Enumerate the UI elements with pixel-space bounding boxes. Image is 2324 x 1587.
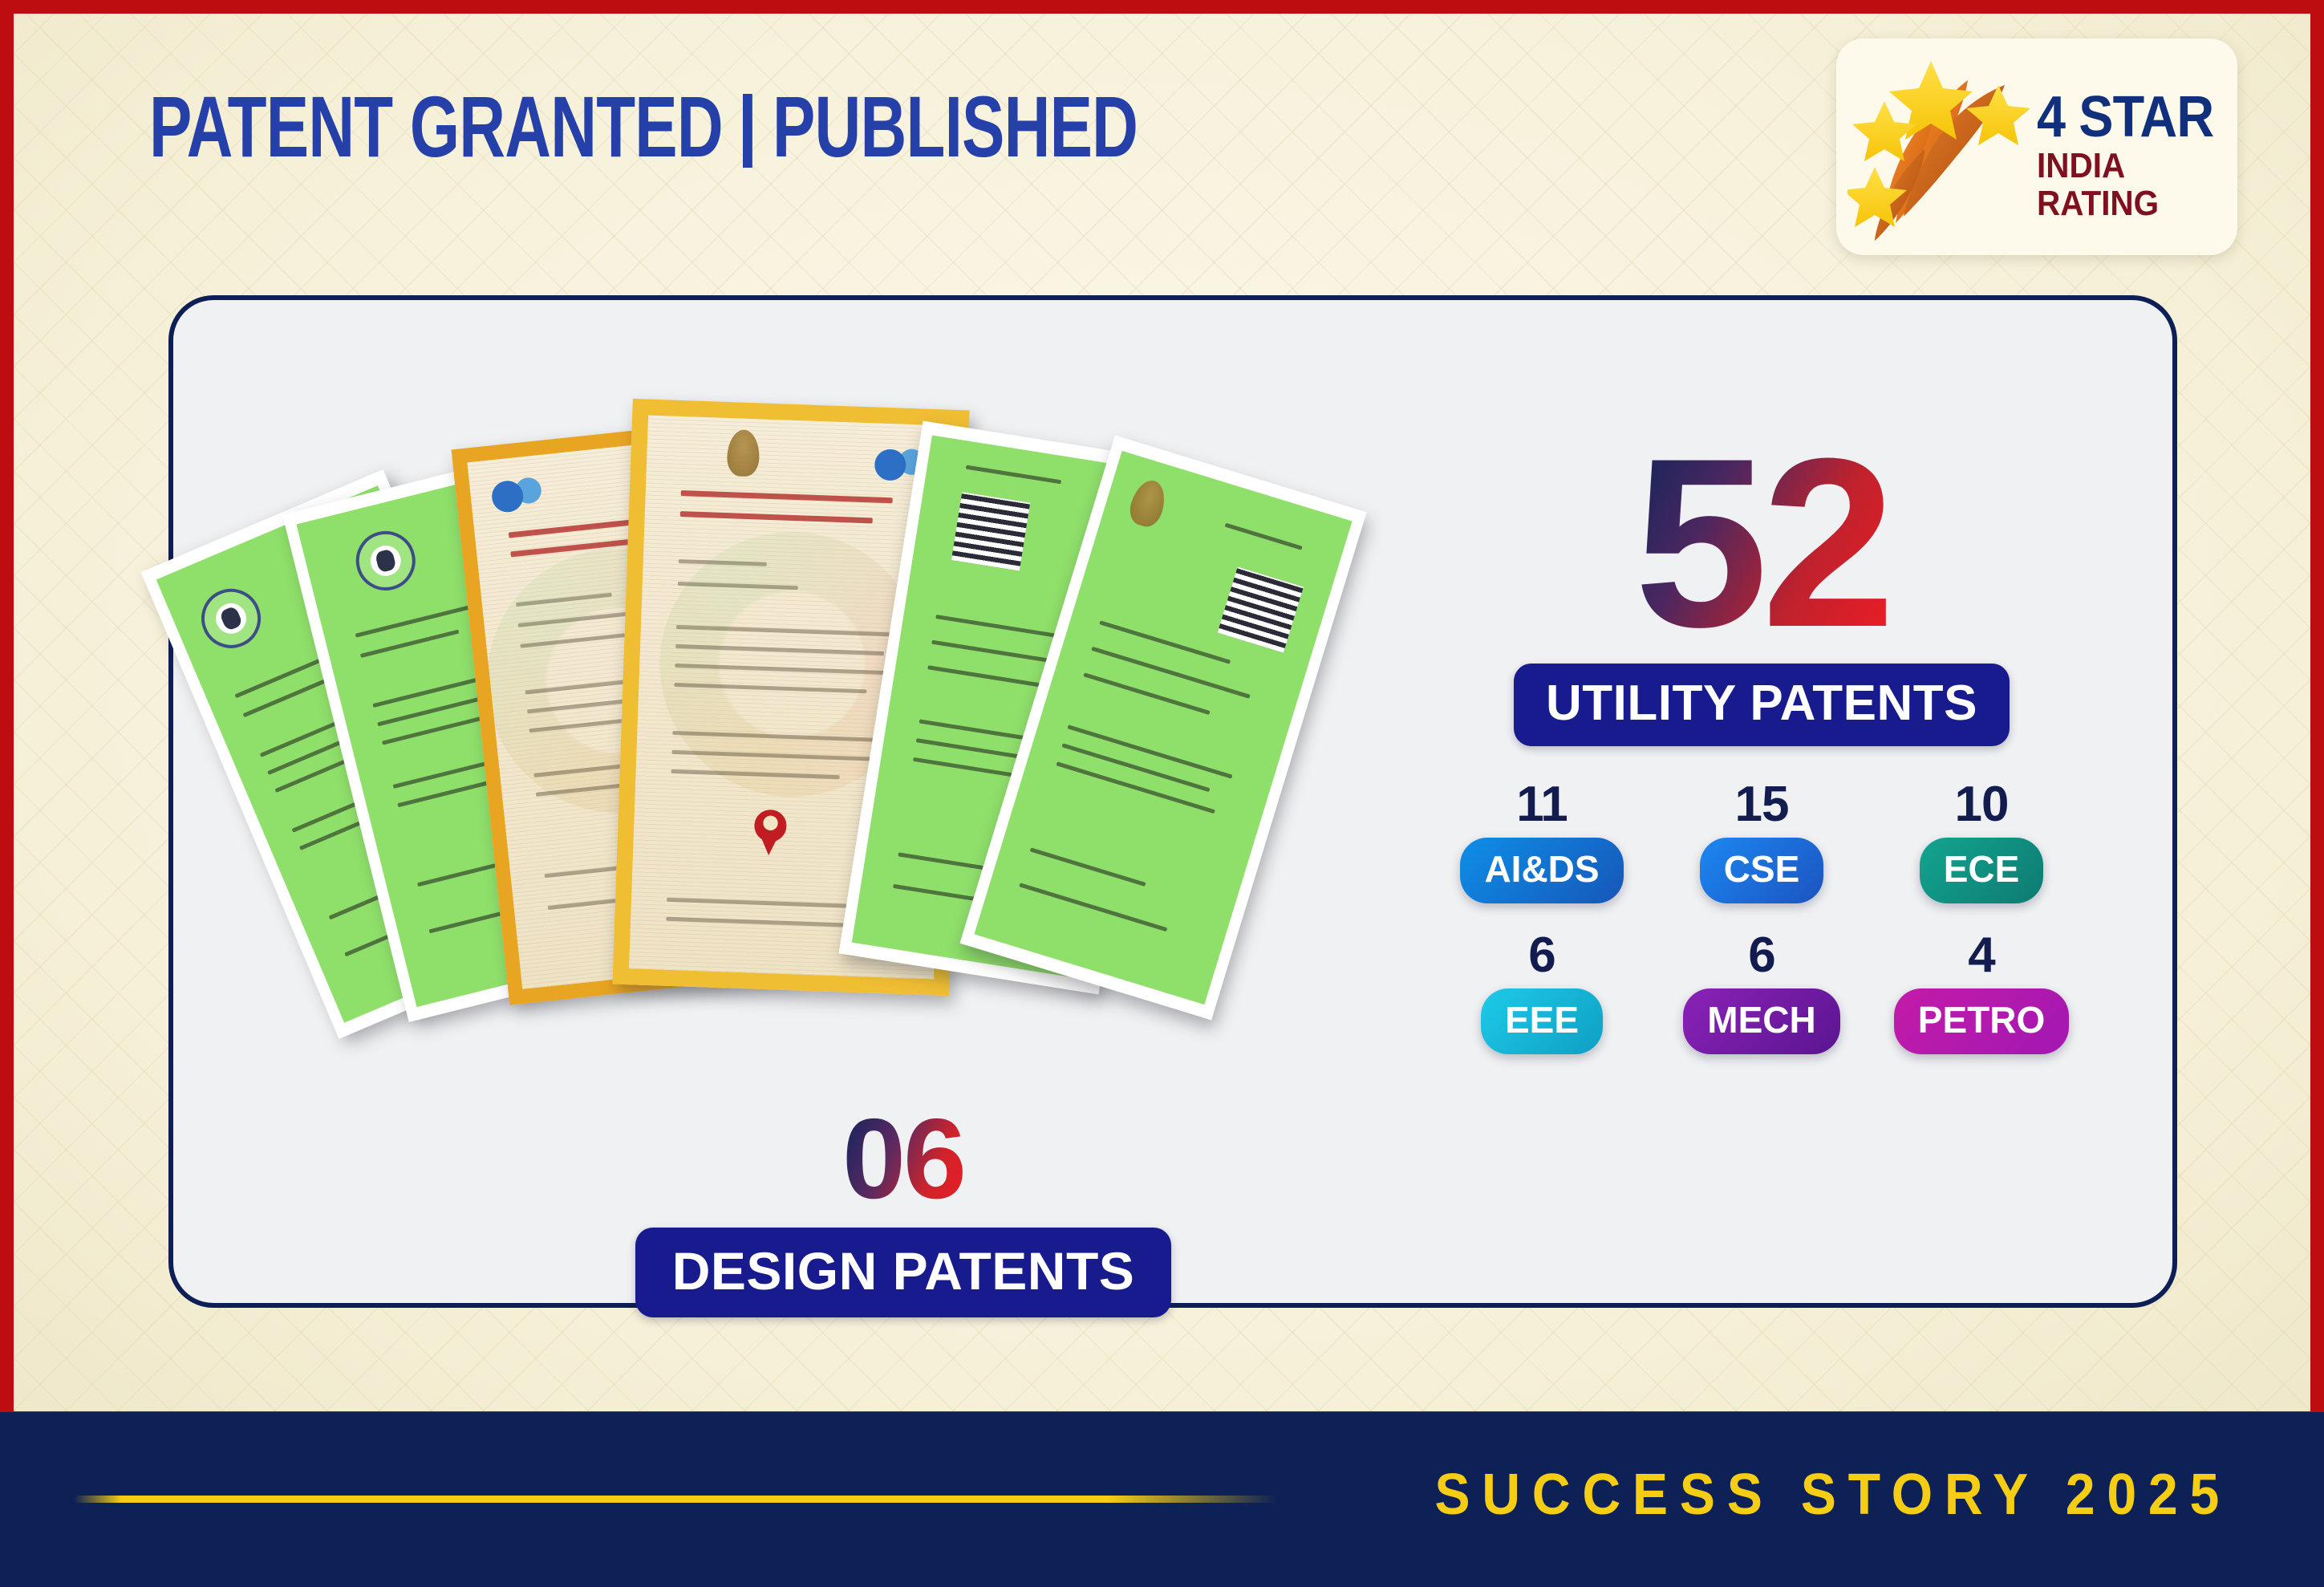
department-count: 4 [1892, 931, 2071, 980]
footer-tagline: SUCCESS STORY 2025 [1434, 1462, 2231, 1528]
department-petro: 4 PETRO [1892, 931, 2071, 1054]
national-emblem-icon [727, 429, 760, 477]
page-title: PATENT GRANTEDPUBLISHED [149, 83, 1138, 170]
department-label: AI&DS [1460, 838, 1623, 903]
department-count: 15 [1673, 780, 1851, 830]
patent-office-logo-icon [490, 472, 550, 514]
department-row-1: 11 AI&DS 15 CSE 10 ECE [1401, 780, 2123, 903]
utility-patents-label: UTILITY PATENTS [1514, 664, 2010, 746]
qr-code-icon [1218, 566, 1304, 652]
department-label: ECE [1920, 838, 2044, 903]
red-ribbon-seal-icon [753, 810, 792, 858]
office-stamp-icon [193, 579, 270, 657]
department-label: PETRO [1894, 988, 2069, 1054]
department-label: EEE [1481, 988, 1603, 1054]
four-star-rating-logo: 4 STAR INDIA RATING [1836, 39, 2237, 255]
utility-patents-block: 52 UTILITY PATENTS 11 AI&DS 15 CSE 10 [1401, 292, 2123, 1054]
qr-code-icon [951, 492, 1030, 570]
department-count: 10 [1892, 780, 2071, 830]
department-aids: 11 AI&DS [1453, 780, 1631, 903]
office-stamp-icon [350, 525, 422, 597]
national-emblem-icon [1125, 477, 1170, 530]
department-count: 11 [1453, 780, 1631, 830]
page-title-part2: PUBLISHED [773, 78, 1138, 175]
design-patents-label: DESIGN PATENTS [635, 1228, 1172, 1317]
certificates-fan [221, 388, 1336, 1022]
infographic-page: PATENT GRANTEDPUBLISHED [0, 0, 2324, 1587]
department-ece: 10 ECE [1892, 780, 2071, 903]
department-row-2: 6 EEE 6 MECH 4 PETRO [1401, 931, 2123, 1054]
logo-line-4-star: 4 STAR [2037, 90, 2214, 144]
page-title-part1: PATENT GRANTED [149, 78, 723, 175]
department-label: CSE [1700, 838, 1824, 903]
logo-line-india-rating: INDIA RATING [2037, 148, 2218, 221]
department-count: 6 [1453, 931, 1631, 980]
main-content-card: 06 DESIGN PATENTS 52 UTILITY PATENTS 11 … [168, 295, 2177, 1308]
department-breakdown: 11 AI&DS 15 CSE 10 ECE 6 EEE [1401, 780, 2123, 1054]
design-patents-block: 06 DESIGN PATENTS [566, 1102, 1240, 1317]
design-patents-count: 06 [842, 1102, 964, 1216]
department-eee: 6 EEE [1453, 931, 1631, 1054]
title-separator-bar [743, 94, 752, 168]
department-cse: 15 CSE [1673, 780, 1851, 903]
logo-text-block: 4 STAR INDIA RATING [2037, 90, 2234, 222]
footer-divider-rule [74, 1496, 1277, 1503]
utility-patents-count: 52 [1634, 428, 1889, 657]
department-count: 6 [1673, 931, 1851, 980]
department-mech: 6 MECH [1673, 931, 1851, 1054]
department-label: MECH [1683, 988, 1839, 1054]
footer-bar: SUCCESS STORY 2025 [0, 1412, 2324, 1587]
stars-swoosh-icon [1847, 51, 2040, 242]
